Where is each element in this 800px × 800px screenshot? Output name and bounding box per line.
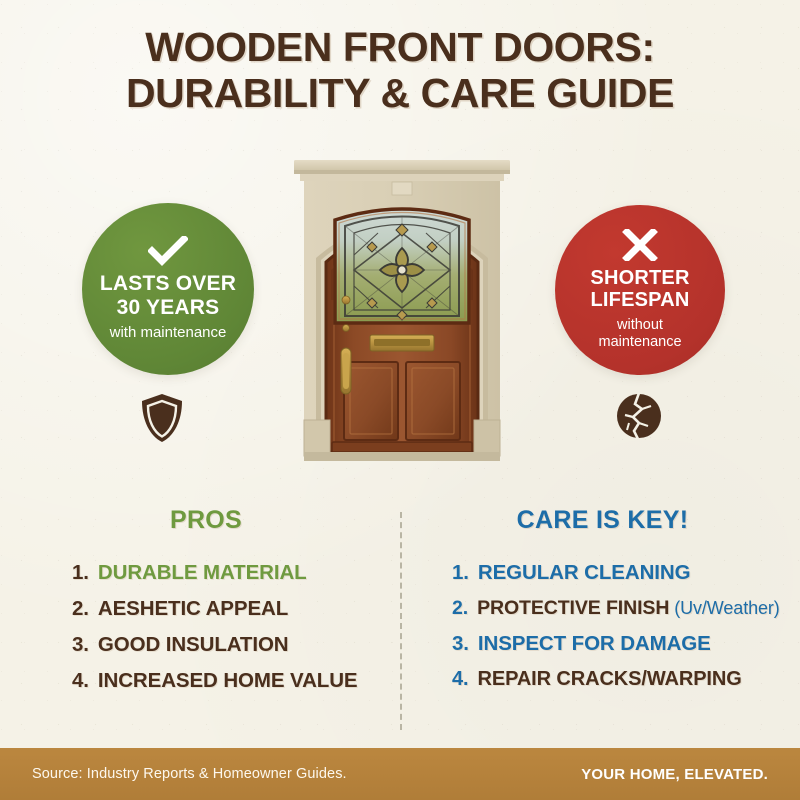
- pros-column: PROS 1. DURABLE MATERIAL 2. AESHETIC APP…: [36, 506, 376, 705]
- badge-shorter-lifespan: SHORTER LIFESPAN without maintenance: [555, 205, 725, 375]
- list-item: 3. GOOD INSULATION: [36, 633, 376, 657]
- pros-list: 1. DURABLE MATERIAL 2. AESHETIC APPEAL 3…: [36, 561, 376, 693]
- list-item-label: DURABLE MATERIAL: [98, 561, 376, 585]
- badge-subtext: with maintenance: [110, 324, 227, 342]
- badge-headline-line2: LIFESPAN: [590, 289, 689, 311]
- list-item-number: 1.: [72, 561, 89, 585]
- cracked-circle-icon: [616, 393, 662, 444]
- list-item-main-text: PROTECTIVE FINISH: [477, 597, 669, 619]
- infographic-canvas: WOODEN FRONT DOORS: DURABILITY & CARE GU…: [0, 0, 800, 800]
- list-item-suffix: (Uv/Weather): [669, 598, 779, 618]
- list-item-label: INCREASED HOME VALUE: [98, 669, 376, 693]
- list-item-label: GOOD INSULATION: [98, 633, 376, 657]
- list-item: 4. REPAIR CRACKS/WARPING: [430, 668, 775, 691]
- check-icon: [148, 236, 188, 266]
- list-item-label: AESHETIC APPEAL: [98, 597, 376, 621]
- list-item: 3. INSPECT FOR DAMAGE: [430, 632, 775, 656]
- care-list: 1. REGULAR CLEANING 2. PROTECTIVE FINISH…: [430, 561, 775, 691]
- x-icon: [622, 229, 658, 261]
- list-item-number: 2.: [72, 597, 89, 621]
- shield-icon: [140, 393, 184, 448]
- badge-subtext: without maintenance: [598, 317, 681, 351]
- pros-heading: PROS: [36, 506, 376, 535]
- list-item: 1. REGULAR CLEANING: [430, 561, 775, 585]
- list-item-label: INSPECT FOR DAMAGE: [478, 632, 775, 656]
- list-item-label: REGULAR CLEANING: [478, 561, 775, 585]
- list-item: 1. DURABLE MATERIAL: [36, 561, 376, 585]
- list-item-number: 3.: [452, 632, 469, 656]
- page-title: WOODEN FRONT DOORS: DURABILITY & CARE GU…: [0, 24, 800, 117]
- footer-tagline: YOUR HOME, ELEVATED.: [581, 766, 768, 783]
- badge-lasts-over-30-years: LASTS OVER 30 YEARS with maintenance: [82, 203, 254, 375]
- list-item-number: 4.: [72, 669, 89, 693]
- title-line-1: WOODEN FRONT DOORS:: [145, 24, 654, 70]
- list-item-number: 1.: [452, 561, 469, 585]
- list-item-label: PROTECTIVE FINISH (Uv/Weather): [477, 597, 780, 620]
- badge-headline: LASTS OVER 30 YEARS: [100, 272, 236, 319]
- care-column: CARE IS KEY! 1. REGULAR CLEANING 2. PROT…: [430, 506, 775, 703]
- badge-headline: SHORTER LIFESPAN: [590, 267, 689, 312]
- badge-headline-line1: LASTS OVER: [100, 272, 236, 295]
- footer-source: Source: Industry Reports & Homeowner Gui…: [32, 766, 347, 782]
- list-item-number: 4.: [452, 668, 468, 691]
- wooden-front-door-illustration: [288, 152, 516, 467]
- list-item: 2. AESHETIC APPEAL: [36, 597, 376, 621]
- badge-subtext-line1: without: [617, 317, 663, 333]
- title-line-2: DURABILITY & CARE GUIDE: [0, 70, 800, 116]
- list-item: 2. PROTECTIVE FINISH (Uv/Weather): [430, 597, 775, 620]
- badge-subtext-line2: maintenance: [598, 334, 681, 350]
- list-item: 4. INCREASED HOME VALUE: [36, 669, 376, 693]
- list-item-number: 2.: [452, 597, 468, 620]
- badge-headline-line1: SHORTER: [590, 267, 689, 289]
- care-heading: CARE IS KEY!: [430, 506, 775, 535]
- footer-bar: Source: Industry Reports & Homeowner Gui…: [0, 748, 800, 800]
- list-item-number: 3.: [72, 633, 89, 657]
- column-divider: [400, 512, 402, 730]
- list-item-label: REPAIR CRACKS/WARPING: [477, 668, 775, 691]
- badge-headline-line2: 30 YEARS: [117, 296, 220, 319]
